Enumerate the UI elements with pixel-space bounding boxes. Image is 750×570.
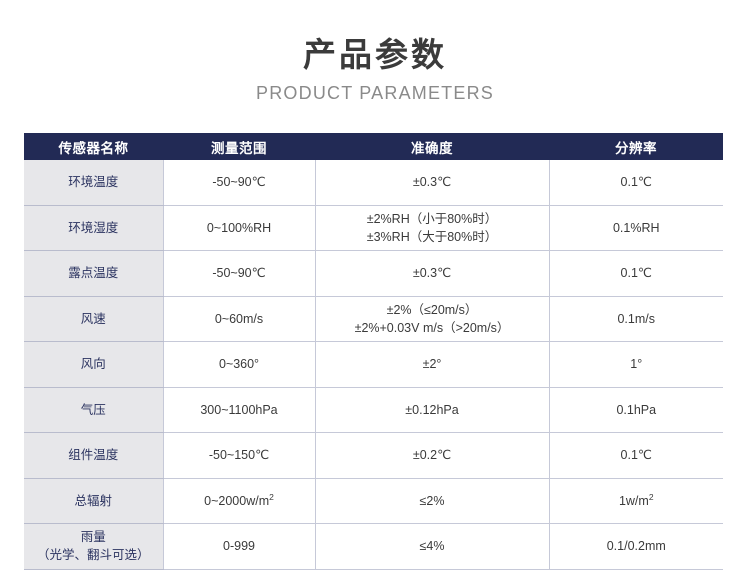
cell-accuracy: ±0.12hPa: [315, 387, 549, 433]
accuracy-line-1: ≤2%: [320, 492, 545, 510]
cell-measuring-range: 0-999: [163, 524, 315, 570]
cell-measuring-range: 300~1100hPa: [163, 387, 315, 433]
sensor-name-line-1: 风向: [28, 355, 159, 373]
page-subtitle: PRODUCT PARAMETERS: [0, 83, 750, 105]
sensor-name-line-1: 雨量: [28, 528, 159, 546]
cell-resolution: 1°: [549, 342, 723, 388]
accuracy-line-1: ±2%RH（小于80%时）: [320, 210, 545, 228]
sensor-name-line-1: 环境温度: [28, 173, 159, 191]
table-row: 组件温度-50~150℃±0.2℃0.1℃: [24, 433, 723, 479]
table-body: 环境温度-50~90℃±0.3℃0.1℃环境湿度0~100%RH±2%RH（小于…: [24, 160, 723, 569]
cell-measuring-range: 0~360°: [163, 342, 315, 388]
column-header-resolution: 分辨率: [549, 133, 723, 160]
accuracy-line-1: ±0.3℃: [320, 264, 545, 282]
accuracy-line-1: ±0.12hPa: [320, 401, 545, 419]
cell-sensor-name: 环境温度: [24, 160, 163, 205]
cell-measuring-range: 0~100%RH: [163, 205, 315, 251]
sensor-name-line-1: 风速: [28, 310, 159, 328]
cell-resolution: 0.1/0.2mm: [549, 524, 723, 570]
superscript-two: 2: [649, 492, 654, 502]
cell-resolution: 0.1m/s: [549, 296, 723, 342]
cell-measuring-range: 0~60m/s: [163, 296, 315, 342]
column-header-measuring-range: 测量范围: [163, 133, 315, 160]
cell-sensor-name: 风速: [24, 296, 163, 342]
product-parameters-page: 产品参数 PRODUCT PARAMETERS 传感器名称 测量范围 准确度 分…: [0, 0, 750, 564]
cell-accuracy: ±2°: [315, 342, 549, 388]
accuracy-line-1: ±2%（≤20m/s）: [320, 301, 545, 319]
table-row: 露点温度-50~90℃±0.3℃0.1℃: [24, 251, 723, 297]
cell-sensor-name: 环境湿度: [24, 205, 163, 251]
spec-table-wrap: 传感器名称 测量范围 准确度 分辨率 环境温度-50~90℃±0.3℃0.1℃环…: [24, 133, 723, 570]
cell-accuracy: ±2%（≤20m/s）±2%+0.03V m/s（>20m/s）: [315, 296, 549, 342]
cell-accuracy: ±0.3℃: [315, 251, 549, 297]
accuracy-line-2: ±3%RH（大于80%时）: [320, 228, 545, 246]
cell-resolution: 0.1℃: [549, 251, 723, 297]
table-row: 风速0~60m/s±2%（≤20m/s）±2%+0.03V m/s（>20m/s…: [24, 296, 723, 342]
table-row: 风向0~360°±2°1°: [24, 342, 723, 388]
accuracy-line-1: ±0.2℃: [320, 446, 545, 464]
accuracy-line-1: ±0.3℃: [320, 173, 545, 191]
cell-sensor-name: 总辐射: [24, 478, 163, 524]
sensor-name-line-1: 环境湿度: [28, 219, 159, 237]
superscript-two: 2: [269, 492, 274, 502]
table-row: 总辐射0~2000w/m2≤2%1w/m2: [24, 478, 723, 524]
table-row: 气压300~1100hPa±0.12hPa0.1hPa: [24, 387, 723, 433]
cell-sensor-name: 风向: [24, 342, 163, 388]
table-header: 传感器名称 测量范围 准确度 分辨率: [24, 133, 723, 160]
cell-accuracy: ≤2%: [315, 478, 549, 524]
cell-resolution: 0.1%RH: [549, 205, 723, 251]
cell-sensor-name: 气压: [24, 387, 163, 433]
cell-sensor-name: 组件温度: [24, 433, 163, 479]
cell-measuring-range: -50~150℃: [163, 433, 315, 479]
sensor-name-line-2: （光学、翻斗可选）: [28, 546, 159, 564]
column-header-accuracy: 准确度: [315, 133, 549, 160]
cell-sensor-name: 雨量（光学、翻斗可选）: [24, 524, 163, 570]
cell-resolution: 1w/m2: [549, 478, 723, 524]
cell-sensor-name: 露点温度: [24, 251, 163, 297]
cell-accuracy: ≤4%: [315, 524, 549, 570]
table-row: 环境温度-50~90℃±0.3℃0.1℃: [24, 160, 723, 205]
specification-table: 传感器名称 测量范围 准确度 分辨率 环境温度-50~90℃±0.3℃0.1℃环…: [24, 133, 723, 570]
cell-measuring-range: -50~90℃: [163, 160, 315, 205]
page-heading: 产品参数 PRODUCT PARAMETERS: [0, 0, 750, 105]
table-row: 雨量（光学、翻斗可选）0-999≤4%0.1/0.2mm: [24, 524, 723, 570]
cell-resolution: 0.1℃: [549, 160, 723, 205]
page-title: 产品参数: [0, 36, 750, 74]
sensor-name-line-1: 露点温度: [28, 264, 159, 282]
table-row: 环境湿度0~100%RH±2%RH（小于80%时）±3%RH（大于80%时）0.…: [24, 205, 723, 251]
cell-resolution: 0.1hPa: [549, 387, 723, 433]
cell-accuracy: ±2%RH（小于80%时）±3%RH（大于80%时）: [315, 205, 549, 251]
cell-accuracy: ±0.2℃: [315, 433, 549, 479]
cell-accuracy: ±0.3℃: [315, 160, 549, 205]
sensor-name-line-1: 组件温度: [28, 446, 159, 464]
sensor-name-line-1: 总辐射: [28, 492, 159, 510]
accuracy-line-1: ≤4%: [320, 537, 545, 555]
accuracy-line-1: ±2°: [320, 355, 545, 373]
cell-measuring-range: 0~2000w/m2: [163, 478, 315, 524]
cell-resolution: 0.1℃: [549, 433, 723, 479]
column-header-sensor-name: 传感器名称: [24, 133, 163, 160]
accuracy-line-2: ±2%+0.03V m/s（>20m/s）: [320, 319, 545, 337]
sensor-name-line-1: 气压: [28, 401, 159, 419]
cell-measuring-range: -50~90℃: [163, 251, 315, 297]
table-header-row: 传感器名称 测量范围 准确度 分辨率: [24, 133, 723, 160]
